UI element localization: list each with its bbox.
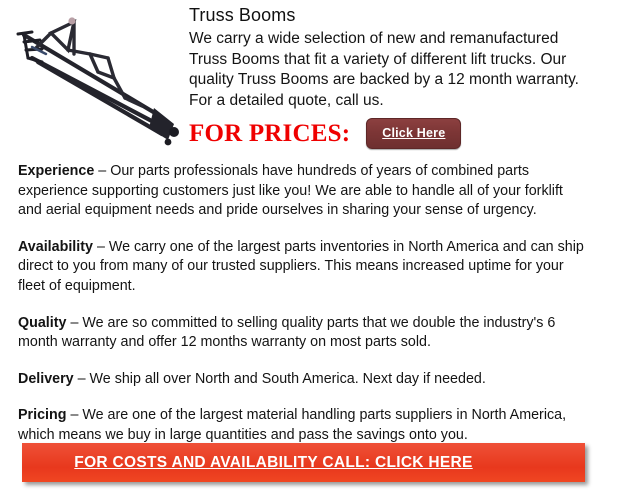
product-intro-text: We carry a wide selection of new and rem… [189, 29, 593, 111]
feature-paragraph-availability: Availability – We carry one of the large… [18, 238, 590, 297]
feature-label-delivery: Delivery [18, 371, 74, 387]
page-title: Truss Booms [189, 4, 593, 26]
feature-dash-availability: – [93, 239, 109, 255]
feature-paragraph-pricing: Pricing – We are one of the largest mate… [18, 406, 590, 445]
feature-label-pricing: Pricing [18, 407, 66, 423]
product-intro-block: Truss Booms We carry a wide selection of… [189, 4, 593, 111]
bottom-cta-wrapper: FOR COSTS AND AVAILABILITY CALL: CLICK H… [22, 443, 585, 482]
features-list: Experience – Our parts professionals hav… [18, 162, 590, 446]
costs-availability-call-button[interactable]: FOR COSTS AND AVAILABILITY CALL: CLICK H… [22, 443, 585, 482]
for-prices-row: FOR PRICES: Click Here [189, 118, 461, 149]
feature-dash-quality: – [66, 315, 82, 331]
click-here-button[interactable]: Click Here [366, 118, 461, 149]
feature-label-experience: Experience [18, 163, 94, 179]
feature-dash-experience: – [94, 163, 110, 179]
feature-label-availability: Availability [18, 239, 93, 255]
feature-paragraph-delivery: Delivery – We ship all over North and So… [18, 370, 590, 390]
feature-dash-pricing: – [66, 407, 82, 423]
product-header-section: Truss Booms We carry a wide selection of… [0, 0, 619, 162]
feature-text-quality: We are so committed to selling quality p… [18, 315, 555, 351]
feature-text-pricing: We are one of the largest material handl… [18, 407, 566, 443]
feature-paragraph-experience: Experience – Our parts professionals hav… [18, 162, 590, 221]
for-prices-label: FOR PRICES: [189, 120, 350, 148]
feature-text-delivery: We ship all over North and South America… [90, 371, 486, 387]
feature-dash-delivery: – [74, 371, 90, 387]
feature-paragraph-quality: Quality – We are so committed to selling… [18, 314, 590, 353]
truss-boom-product-image [2, 2, 188, 160]
feature-label-quality: Quality [18, 315, 66, 331]
